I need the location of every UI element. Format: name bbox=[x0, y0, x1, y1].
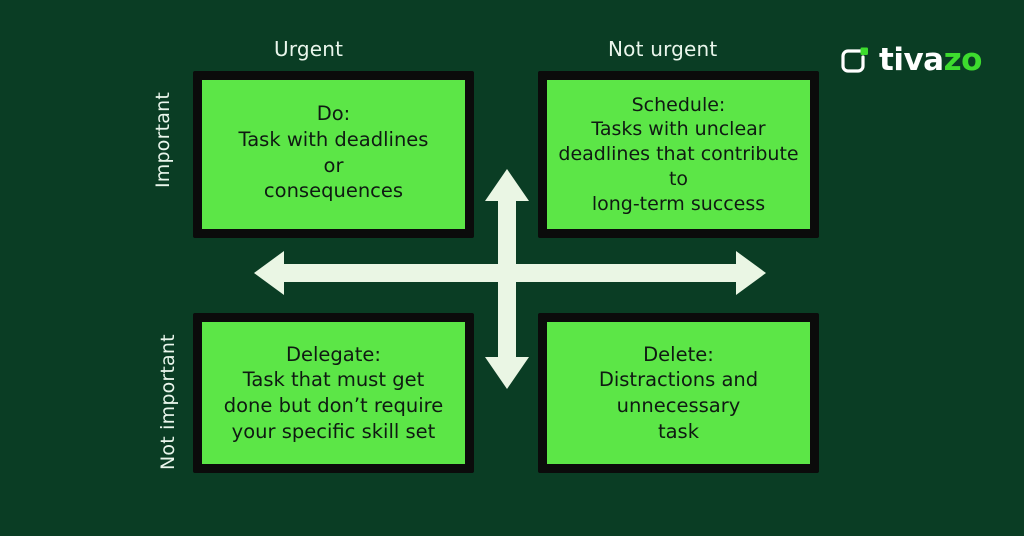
quadrant-do-line-1: Task with deadlines bbox=[239, 127, 429, 153]
quadrant-schedule-line-4: long-term success bbox=[558, 192, 798, 217]
quadrant-delegate-text: Delegate: Task that must get done but do… bbox=[224, 342, 443, 445]
quadrant-schedule-line-0: Schedule: bbox=[558, 93, 798, 118]
quadrant-delete-line-2: unnecessary bbox=[599, 393, 758, 419]
quadrant-delete-text: Delete: Distractions and unnecessary tas… bbox=[599, 342, 758, 445]
quadrant-schedule-line-1: Tasks with unclear bbox=[558, 117, 798, 142]
quadrant-delete[interactable]: Delete: Distractions and unnecessary tas… bbox=[538, 313, 819, 473]
quadrant-schedule-text: Schedule: Tasks with unclear deadlines t… bbox=[558, 93, 798, 216]
tivazo-logo: tivazo bbox=[838, 44, 982, 76]
quadrant-do-line-0: Do: bbox=[239, 101, 429, 127]
quadrant-schedule[interactable]: Schedule: Tasks with unclear deadlines t… bbox=[538, 71, 819, 238]
quadrant-delegate-line-2: done but don’t require bbox=[224, 393, 443, 419]
quadrant-delegate-line-1: Task that must get bbox=[224, 367, 443, 393]
quadrant-delegate[interactable]: Delegate: Task that must get done but do… bbox=[193, 313, 474, 473]
quadrant-schedule-line-3: to bbox=[558, 167, 798, 192]
quadrant-do-line-3: consequences bbox=[239, 178, 429, 204]
quadrant-delegate-line-0: Delegate: bbox=[224, 342, 443, 368]
row-header-not-important: Not important bbox=[157, 334, 179, 470]
quadrant-delete-line-1: Distractions and bbox=[599, 367, 758, 393]
quadrant-delegate-line-3: your specific skill set bbox=[224, 419, 443, 445]
column-header-urgent: Urgent bbox=[274, 37, 343, 61]
row-header-important: Important bbox=[152, 92, 174, 188]
quadrant-do-text: Do: Task with deadlines or consequences bbox=[239, 101, 429, 204]
tivazo-square-mark-icon bbox=[838, 44, 870, 76]
quadrant-delete-line-3: task bbox=[599, 419, 758, 445]
quadrant-do[interactable]: Do: Task with deadlines or consequences bbox=[193, 71, 474, 238]
eisenhower-matrix-canvas: Urgent Not urgent Important Not importan… bbox=[0, 0, 1024, 536]
logo-text-primary: tiva bbox=[879, 42, 944, 78]
quadrant-do-line-2: or bbox=[239, 153, 429, 179]
tivazo-wordmark: tivazo bbox=[879, 45, 982, 76]
logo-text-accent: zo bbox=[944, 42, 982, 78]
column-header-not-urgent: Not urgent bbox=[608, 37, 717, 61]
quadrant-delete-line-0: Delete: bbox=[599, 342, 758, 368]
quadrant-schedule-line-2: deadlines that contribute bbox=[558, 142, 798, 167]
